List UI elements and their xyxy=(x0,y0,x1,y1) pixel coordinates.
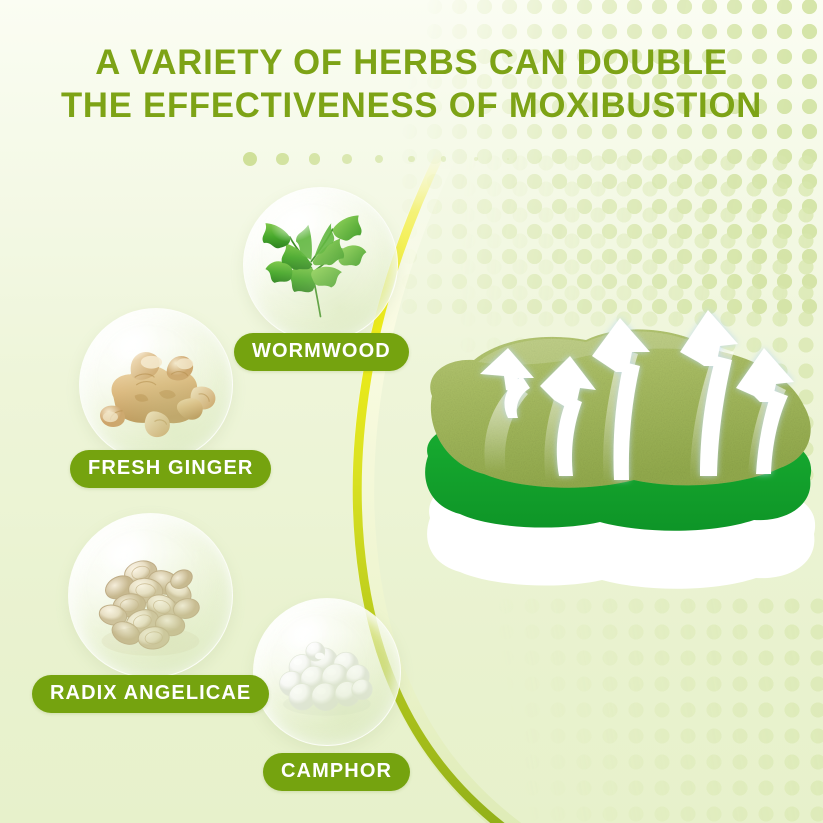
divider-dot xyxy=(474,157,478,161)
poster-canvas: A VARIETY OF HERBS CAN DOUBLE THE EFFECT… xyxy=(0,0,823,823)
divider-dot xyxy=(507,158,509,160)
moxibustion-patch-diagram xyxy=(418,296,823,626)
divider-dot xyxy=(309,153,320,164)
headline: A VARIETY OF HERBS CAN DOUBLE THE EFFECT… xyxy=(0,42,823,127)
herb-label-wormwood[interactable]: WORMWOOD xyxy=(234,333,409,371)
herb-bubble-camphor[interactable] xyxy=(253,598,401,746)
divider-dot xyxy=(375,155,383,163)
halftone-dots-bottom-right xyxy=(493,593,823,823)
divider-dot xyxy=(243,152,257,166)
divider-dot xyxy=(441,156,446,161)
sliced-root-icon xyxy=(69,514,232,677)
ginger-root-icon xyxy=(80,309,232,461)
camphor-balls-icon xyxy=(254,599,400,745)
herb-label-radix-angelicae[interactable]: RADIX ANGELICAE xyxy=(32,675,269,713)
headline-line-1: A VARIETY OF HERBS CAN DOUBLE xyxy=(28,42,795,85)
divider-dot xyxy=(276,153,289,166)
herb-bubble-wormwood[interactable] xyxy=(243,187,398,342)
divider-dot-row xyxy=(243,148,543,170)
herb-bubble-fresh-ginger[interactable] xyxy=(79,308,233,462)
wormwood-sprig-icon xyxy=(244,188,397,341)
divider-dot xyxy=(342,154,352,164)
herb-label-camphor[interactable]: CAMPHOR xyxy=(263,753,410,791)
herb-label-fresh-ginger[interactable]: FRESH GINGER xyxy=(70,450,271,488)
headline-line-2: THE EFFECTIVENESS OF MOXIBUSTION xyxy=(28,85,795,128)
herb-bubble-radix-angelicae[interactable] xyxy=(68,513,233,678)
divider-dot xyxy=(408,156,415,163)
